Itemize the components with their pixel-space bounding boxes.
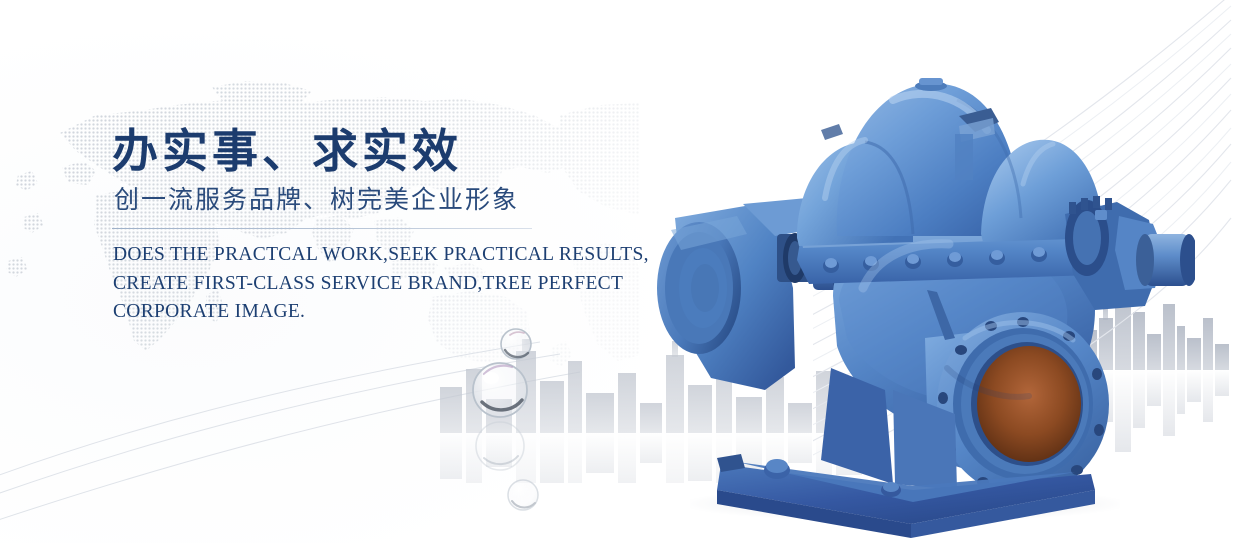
promo-banner: 办实事、求实效 创一流服务品牌、树完美企业形象 DOES THE PRACTCA… (0, 0, 1233, 543)
divider-rule (112, 228, 532, 229)
banner-text-block: 办实事、求实效 创一流服务品牌、树完美企业形象 DOES THE PRACTCA… (112, 128, 672, 326)
english-line-3: CORPORATE IMAGE. (113, 298, 658, 326)
english-line-2: CREATE FIRST-CLASS SERVICE BRAND,TREE PE… (113, 270, 658, 298)
water-bubbles (460, 320, 620, 520)
banner-subheadline: 创一流服务品牌、树完美企业形象 (114, 186, 672, 216)
split-case-centrifugal-pump (625, 38, 1195, 538)
sweeping-arc-lines (0, 300, 640, 543)
english-line-1: DOES THE PRACTCAL WORK,SEEK PRACTICAL RE… (113, 241, 658, 269)
banner-headline: 办实事、求实效 (112, 128, 672, 176)
banner-english-tagline: DOES THE PRACTCAL WORK,SEEK PRACTICAL RE… (113, 241, 658, 326)
